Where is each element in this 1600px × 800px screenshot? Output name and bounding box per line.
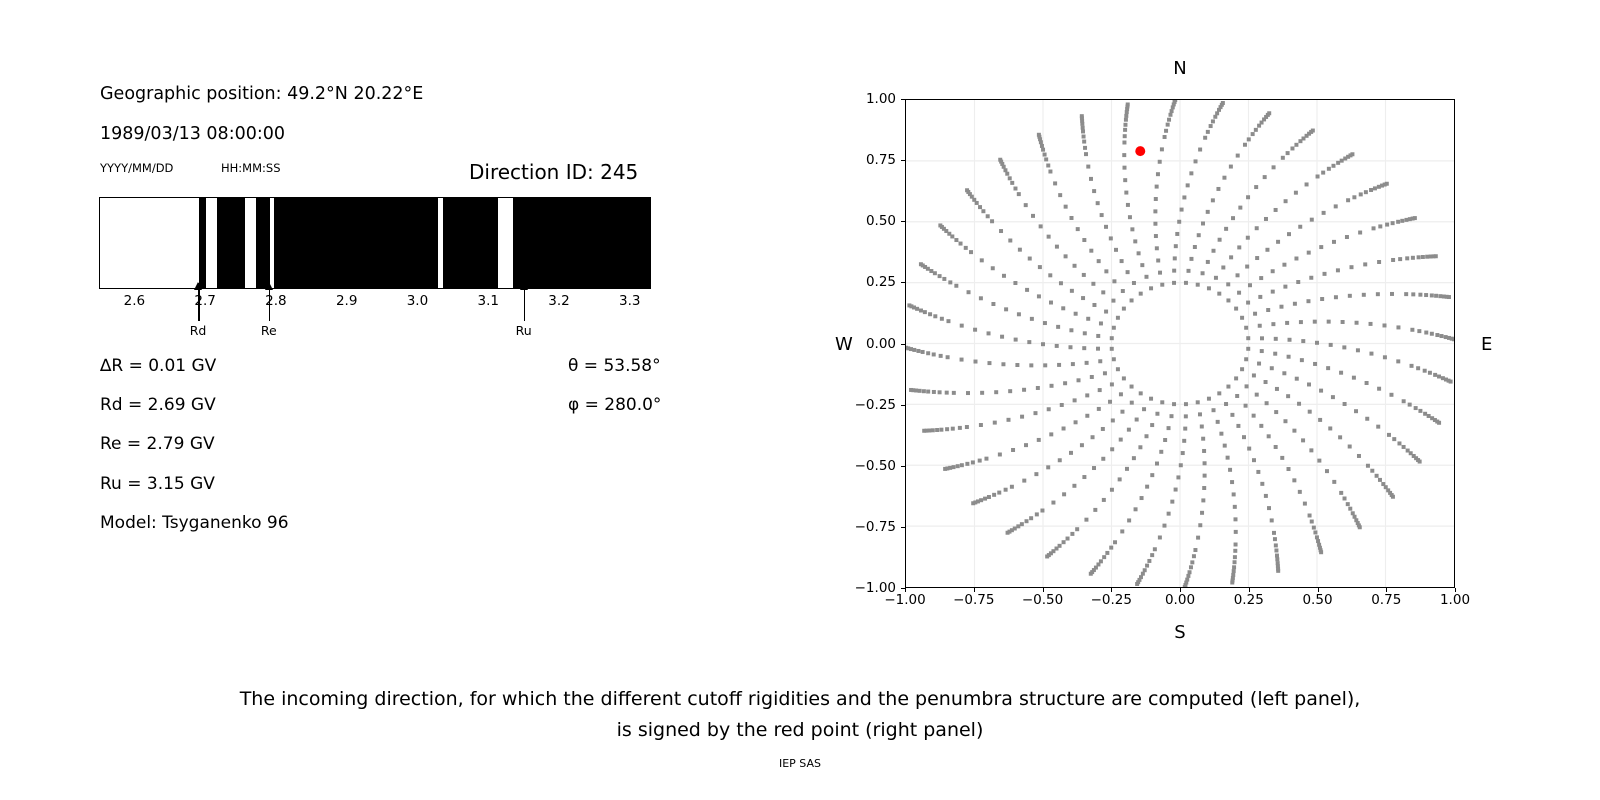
direction-point <box>1405 256 1409 260</box>
direction-point <box>1328 426 1332 430</box>
direction-point <box>1166 123 1170 127</box>
direction-point <box>1410 328 1414 332</box>
direction-point <box>938 274 942 278</box>
direction-point <box>1352 376 1356 380</box>
direction-point <box>1127 428 1131 432</box>
direction-point <box>978 459 982 463</box>
direction-point <box>971 460 975 464</box>
direction-point <box>1223 444 1227 448</box>
direction-point <box>1153 209 1157 213</box>
direction-point <box>940 317 944 321</box>
direction-point <box>1238 206 1242 210</box>
direction-point <box>1396 359 1400 363</box>
direction-point <box>1082 135 1086 139</box>
direction-point <box>1070 289 1074 293</box>
direction-point <box>1391 221 1395 225</box>
direction-point <box>1418 409 1422 413</box>
direction-point <box>1159 450 1163 454</box>
direction-point <box>967 290 971 294</box>
direction-point <box>992 493 996 497</box>
direction-point <box>1303 502 1307 506</box>
x-tick-mark <box>1386 588 1387 592</box>
direction-point <box>1123 128 1127 132</box>
direction-point <box>1072 484 1076 488</box>
direction-point <box>1240 316 1244 320</box>
direction-point <box>921 350 925 354</box>
x-tick-label: 0.25 <box>1234 592 1264 608</box>
direction-point <box>1069 328 1073 332</box>
direction-point <box>1160 400 1164 404</box>
direction-point <box>1112 279 1116 283</box>
marker-arrow-icon <box>265 282 273 290</box>
direction-point <box>980 258 984 262</box>
direction-point <box>1319 389 1323 393</box>
direction-point <box>1155 185 1159 189</box>
direction-point <box>997 491 1001 495</box>
direction-point <box>1130 385 1134 389</box>
direction-point <box>1283 285 1287 289</box>
direction-point <box>1229 165 1233 169</box>
direction-point <box>1074 312 1078 316</box>
geographic-position-text: Geographic position: 49.2°N 20.22°E <box>100 84 423 104</box>
direction-point <box>1113 540 1117 544</box>
direction-point <box>1112 326 1116 330</box>
direction-point <box>1096 201 1100 205</box>
direction-point <box>1190 560 1194 564</box>
direction-point <box>946 319 950 323</box>
marker-arrow-icon <box>520 282 528 290</box>
direction-point <box>1203 461 1207 465</box>
direction-point <box>1245 384 1249 388</box>
direction-point <box>1221 265 1225 269</box>
direction-point <box>1342 345 1346 349</box>
penumbra-allowed-band <box>274 198 438 288</box>
direction-point <box>1081 296 1085 300</box>
direction-point <box>1200 425 1204 429</box>
direction-point <box>1055 245 1059 249</box>
direction-point <box>1378 224 1382 228</box>
direction-point <box>1306 299 1310 303</box>
direction-point <box>1228 468 1232 472</box>
direction-point <box>1404 292 1408 296</box>
direction-point <box>1167 118 1171 122</box>
direction-point <box>1092 189 1096 193</box>
direction-point <box>1309 448 1313 452</box>
direction-point <box>1108 400 1112 404</box>
direction-point <box>1139 391 1143 395</box>
direction-point <box>1013 281 1017 285</box>
direction-point <box>1392 437 1396 441</box>
selected-direction-point[interactable] <box>1135 146 1145 156</box>
direction-point <box>1391 258 1395 262</box>
direction-point <box>1116 367 1120 371</box>
direction-point <box>1322 211 1326 215</box>
direction-point <box>1297 402 1301 406</box>
y-tick-label: 0.25 <box>866 274 896 290</box>
direction-point <box>1287 467 1291 471</box>
direction-point <box>1287 232 1291 236</box>
direction-point <box>1173 100 1177 102</box>
direction-point <box>1198 148 1202 152</box>
direction-point <box>922 389 926 393</box>
direction-point <box>1237 245 1241 249</box>
direction-point <box>939 354 943 358</box>
y-axis-tick-labels: −1.00−0.75−0.50−0.250.000.250.500.751.00 <box>800 99 896 588</box>
direction-point <box>1046 163 1050 167</box>
direction-point <box>1048 170 1052 174</box>
direction-point <box>965 462 969 466</box>
direction-point <box>1271 290 1275 294</box>
y-tick-label: −0.75 <box>855 519 896 535</box>
direction-point <box>1313 362 1317 366</box>
direction-point <box>1119 438 1123 442</box>
direction-point <box>1414 406 1418 410</box>
direction-point <box>929 269 933 273</box>
direction-point <box>1172 402 1176 406</box>
figure-caption: The incoming direction, for which the di… <box>0 684 1600 746</box>
direction-point <box>1189 257 1193 261</box>
direction-scatter-plot <box>905 99 1455 588</box>
direction-point <box>1295 377 1299 381</box>
direction-point <box>979 296 983 300</box>
direction-point <box>1153 222 1157 226</box>
direction-point <box>1440 334 1444 338</box>
direction-point <box>1170 500 1174 504</box>
direction-point <box>1158 160 1162 164</box>
direction-point <box>1069 451 1073 455</box>
direction-point <box>1167 512 1171 516</box>
direction-point <box>1083 146 1087 150</box>
direction-point <box>1080 114 1084 118</box>
x-tick-label: −0.75 <box>953 592 994 608</box>
direction-point <box>1246 301 1250 305</box>
direction-point <box>1350 152 1354 156</box>
direction-point <box>1434 294 1438 298</box>
direction-point <box>1060 403 1064 407</box>
direction-point <box>1216 420 1220 424</box>
direction-point <box>1315 341 1319 345</box>
direction-point <box>909 388 913 392</box>
direction-point <box>1339 371 1343 375</box>
direction-point <box>1196 400 1200 404</box>
direction-point <box>1144 275 1148 279</box>
direction-point <box>1226 298 1230 302</box>
direction-point <box>1258 295 1262 299</box>
x-tick-label: 0.75 <box>1371 592 1401 608</box>
direction-point <box>1073 398 1077 402</box>
direction-point <box>942 277 946 281</box>
direction-point <box>1284 199 1288 203</box>
direction-point <box>1175 232 1179 236</box>
direction-point <box>981 209 985 213</box>
direction-point <box>1437 375 1441 379</box>
direction-point <box>1217 292 1221 296</box>
direction-point <box>1047 235 1051 239</box>
direction-point <box>1083 331 1087 335</box>
direction-point <box>1179 463 1183 467</box>
direction-point <box>1234 307 1238 311</box>
direction-point <box>1366 464 1370 468</box>
direction-point <box>1215 111 1219 115</box>
direction-point <box>1433 373 1437 377</box>
parameter-value: ∆R = 0.01 GV <box>100 356 216 376</box>
direction-point <box>1050 384 1054 388</box>
direction-point <box>1383 323 1387 327</box>
direction-point <box>1316 539 1320 543</box>
direction-point <box>1290 146 1294 150</box>
x-tick-label: −1.00 <box>884 592 925 608</box>
direction-point <box>1323 272 1327 276</box>
direction-point <box>938 223 942 227</box>
direction-point <box>1332 480 1336 484</box>
direction-point <box>1004 307 1008 311</box>
x-tick-mark <box>1249 588 1250 592</box>
direction-point <box>1059 281 1063 285</box>
direction-point <box>945 391 949 395</box>
direction-point <box>1385 223 1389 227</box>
direction-point <box>1120 259 1124 263</box>
penumbra-allowed-band <box>513 198 651 288</box>
direction-point <box>1202 449 1206 453</box>
direction-point <box>1201 221 1205 225</box>
direction-point <box>1070 532 1074 536</box>
direction-point <box>994 390 998 394</box>
direction-point <box>1285 321 1289 325</box>
direction-point <box>1427 414 1431 418</box>
direction-point <box>1296 280 1300 284</box>
footer-text: IEP SAS <box>0 757 1600 770</box>
direction-point <box>1057 363 1061 367</box>
direction-point <box>1259 276 1263 280</box>
direction-point <box>907 303 911 307</box>
direction-point <box>1264 217 1268 221</box>
direction-point <box>1154 197 1158 201</box>
direction-point <box>1352 195 1356 199</box>
direction-point <box>1305 182 1309 186</box>
direction-point <box>1130 227 1134 231</box>
direction-point <box>1118 477 1122 481</box>
direction-point <box>1351 511 1355 515</box>
direction-point <box>1376 292 1380 296</box>
direction-point <box>1101 290 1105 294</box>
direction-point <box>1194 159 1198 163</box>
direction-point <box>1430 293 1434 297</box>
direction-point <box>960 324 964 328</box>
direction-point <box>1075 527 1079 531</box>
x-tick-mark <box>1043 588 1044 592</box>
direction-point <box>1126 102 1130 106</box>
x-tick-mark <box>1111 588 1112 592</box>
direction-point <box>1193 245 1197 249</box>
direction-point <box>1004 488 1008 492</box>
direction-point <box>1102 498 1106 502</box>
direction-point <box>1116 316 1120 320</box>
penumbra-tick-label: 3.3 <box>619 293 640 309</box>
parameter-value: Re = 2.79 GV <box>100 434 215 454</box>
direction-point <box>1201 271 1205 275</box>
direction-point <box>1315 535 1319 539</box>
compass-label-south: S <box>1174 622 1185 643</box>
direction-point <box>1318 418 1322 422</box>
direction-point <box>1011 448 1015 452</box>
time-format-label: HH:MM:SS <box>221 161 281 175</box>
direction-point <box>948 280 952 284</box>
direction-point <box>964 246 968 250</box>
direction-point <box>1156 259 1160 263</box>
direction-point <box>1222 176 1226 180</box>
direction-point <box>1142 407 1146 411</box>
direction-point <box>984 457 988 461</box>
direction-point <box>1174 488 1178 492</box>
direction-point <box>1258 324 1262 328</box>
direction-point <box>1244 326 1248 330</box>
direction-point <box>943 467 947 471</box>
direction-point <box>1058 193 1062 197</box>
direction-point <box>1299 320 1303 324</box>
parameter-value: Ru = 3.15 GV <box>100 474 215 494</box>
direction-point <box>1163 438 1167 442</box>
direction-point <box>1264 494 1268 498</box>
direction-point <box>1334 295 1338 299</box>
direction-point <box>946 355 950 359</box>
direction-point <box>1105 551 1109 555</box>
direction-point <box>1402 399 1406 403</box>
direction-point <box>1122 307 1126 311</box>
direction-point <box>1041 148 1045 152</box>
direction-point <box>1145 485 1149 489</box>
direction-point <box>1058 458 1062 462</box>
direction-point <box>1251 132 1255 136</box>
x-tick-mark <box>1180 588 1181 592</box>
direction-point <box>1005 172 1009 176</box>
direction-point <box>1164 129 1168 133</box>
direction-point <box>978 205 982 209</box>
direction-point <box>1331 164 1335 168</box>
direction-point <box>1276 569 1280 573</box>
direction-point <box>979 423 983 427</box>
direction-point <box>933 271 937 275</box>
direction-point <box>1233 505 1237 509</box>
direction-point <box>1369 352 1373 356</box>
direction-point <box>1272 531 1276 535</box>
direction-point <box>1233 549 1237 553</box>
direction-point <box>1097 407 1101 411</box>
direction-point <box>1418 293 1422 297</box>
direction-point <box>1224 227 1228 231</box>
direction-point <box>1389 393 1393 397</box>
direction-point <box>1298 225 1302 229</box>
direction-point <box>1096 347 1100 351</box>
direction-point <box>1043 321 1047 325</box>
direction-point <box>1321 171 1325 175</box>
direction-point <box>1156 172 1160 176</box>
direction-point <box>1336 161 1340 165</box>
direction-point <box>1048 273 1052 277</box>
direction-point <box>1110 382 1114 386</box>
direction-point <box>1226 385 1230 389</box>
direction-point <box>1234 530 1238 534</box>
direction-point <box>1339 491 1343 495</box>
direction-point <box>1260 336 1264 340</box>
direction-point <box>1184 402 1188 406</box>
direction-point <box>1310 218 1314 222</box>
direction-point <box>1003 168 1007 172</box>
marker-label: Rd <box>190 323 207 338</box>
penumbra-allowed-band <box>443 198 498 288</box>
direction-point <box>1340 159 1344 163</box>
direction-point <box>969 250 973 254</box>
y-tick-label: 0.00 <box>866 336 896 352</box>
direction-point <box>1398 257 1402 261</box>
direction-point <box>1124 118 1128 122</box>
penumbra-tick-label: 3.1 <box>477 293 498 309</box>
direction-point <box>1244 357 1248 361</box>
direction-point <box>1192 554 1196 558</box>
direction-point <box>1408 403 1412 407</box>
direction-point <box>1438 294 1442 298</box>
penumbra-bar <box>99 197 651 289</box>
direction-point <box>1015 363 1019 367</box>
parameter-value: Model: Tsyganenko 96 <box>100 513 289 533</box>
direction-point <box>1274 410 1278 414</box>
direction-point <box>1359 192 1363 196</box>
direction-point <box>1103 371 1107 375</box>
x-tick-mark <box>974 588 975 592</box>
direction-point <box>1149 286 1153 290</box>
direction-point <box>1010 181 1014 185</box>
direction-point <box>1354 409 1358 413</box>
direction-plot-panel: N S W E −1.00−0.75−0.50−0.250.000.250.50… <box>800 0 1600 680</box>
direction-point <box>960 463 964 467</box>
direction-point <box>932 352 936 356</box>
direction-point <box>1417 329 1421 333</box>
direction-point <box>1162 524 1166 528</box>
penumbra-tick-label: 3.0 <box>407 293 428 309</box>
direction-point <box>1109 546 1113 550</box>
direction-point <box>1123 178 1127 182</box>
direction-point <box>1273 537 1277 541</box>
direction-point <box>952 391 956 395</box>
direction-point <box>1172 269 1176 273</box>
direction-point <box>1110 347 1114 351</box>
direction-point <box>1327 167 1331 171</box>
direction-point <box>1377 260 1381 264</box>
direction-point <box>1017 192 1021 196</box>
direction-point <box>1085 393 1089 397</box>
direction-point <box>1265 248 1269 252</box>
direction-point <box>1061 306 1065 310</box>
direction-point <box>1252 414 1256 418</box>
direction-point <box>1008 239 1012 243</box>
direction-point <box>1028 257 1032 261</box>
direction-point <box>1421 255 1425 259</box>
direction-point <box>1025 519 1029 523</box>
x-tick-label: 1.00 <box>1440 592 1470 608</box>
direction-point <box>1424 331 1428 335</box>
direction-point <box>1104 225 1108 229</box>
direction-point <box>971 501 975 505</box>
direction-point <box>1135 582 1139 586</box>
direction-point <box>1253 312 1257 316</box>
direction-point <box>1357 454 1361 458</box>
direction-point <box>1198 523 1202 527</box>
direction-point <box>1257 362 1261 366</box>
direction-point <box>1086 165 1090 169</box>
direction-point <box>986 214 990 218</box>
direction-point <box>1266 308 1270 312</box>
direction-point <box>1246 347 1250 351</box>
direction-point <box>1298 490 1302 494</box>
